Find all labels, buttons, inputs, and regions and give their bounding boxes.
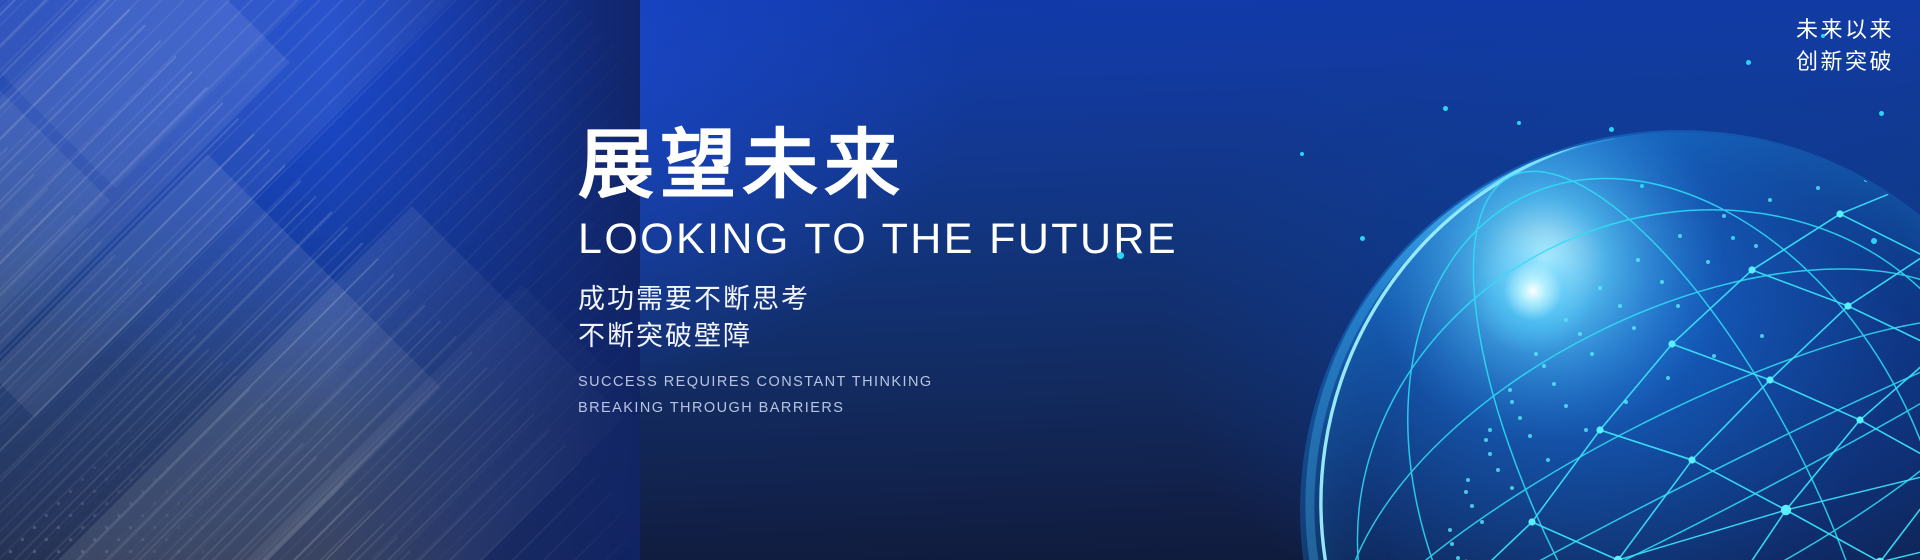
decor-slab bbox=[0, 0, 483, 188]
headline-title-cn: 展望未来 bbox=[578, 128, 1338, 204]
left-geometric-decoration bbox=[0, 0, 640, 560]
decor-dot-grid bbox=[0, 407, 376, 560]
particle bbox=[1517, 121, 1521, 125]
decor-stripe-bundle bbox=[0, 0, 640, 560]
corner-tagline-line-2: 创新突破 bbox=[1796, 46, 1894, 78]
decor-slab bbox=[0, 154, 441, 560]
particle bbox=[1300, 152, 1304, 156]
decor-slab bbox=[0, 60, 110, 541]
headline-title-en: LOOKING TO THE FUTURE bbox=[578, 218, 1338, 261]
subtitle-cn-line-2: 不断突破壁障 bbox=[578, 318, 1338, 355]
particle bbox=[1731, 236, 1735, 240]
headline-subtitle-en: SUCCESS REQUIRES CONSTANT THINKING BREAK… bbox=[578, 369, 1338, 422]
wireframe-globe bbox=[1300, 130, 1920, 560]
particle bbox=[1443, 106, 1448, 111]
decor-slab bbox=[0, 0, 290, 430]
hero-banner: 展望未来 LOOKING TO THE FUTURE 成功需要不断思考 不断突破… bbox=[0, 0, 1920, 560]
globe-flare bbox=[1468, 226, 1598, 356]
globe-mesh-svg bbox=[1300, 130, 1920, 560]
particle bbox=[1640, 184, 1644, 188]
decor-stripe-bundle bbox=[0, 0, 640, 560]
particle bbox=[1871, 238, 1877, 244]
globe-glow bbox=[1300, 130, 1920, 560]
corner-tagline: 未来以来 创新突破 bbox=[1796, 14, 1894, 78]
decor-slab bbox=[154, 284, 640, 560]
particle bbox=[1746, 60, 1751, 65]
decor-stripe-bundle bbox=[0, 120, 475, 560]
particle bbox=[1609, 127, 1614, 132]
particle bbox=[1117, 252, 1124, 259]
decor-slab bbox=[0, 0, 473, 418]
particle bbox=[1360, 236, 1365, 241]
subtitle-en-line-1: SUCCESS REQUIRES CONSTANT THINKING bbox=[578, 369, 1338, 395]
decor-left-fade bbox=[0, 0, 640, 560]
subtitle-en-line-2: BREAKING THROUGH BARRIERS bbox=[578, 395, 1338, 421]
headline-subtitle-cn: 成功需要不断思考 不断突破壁障 bbox=[578, 281, 1338, 356]
headline-block: 展望未来 LOOKING TO THE FUTURE 成功需要不断思考 不断突破… bbox=[578, 128, 1338, 421]
corner-tagline-line-1: 未来以来 bbox=[1796, 14, 1894, 46]
subtitle-cn-line-1: 成功需要不断思考 bbox=[578, 281, 1338, 318]
decor-slab bbox=[16, 206, 624, 560]
particle bbox=[1821, 34, 1825, 38]
particle bbox=[1879, 111, 1884, 116]
